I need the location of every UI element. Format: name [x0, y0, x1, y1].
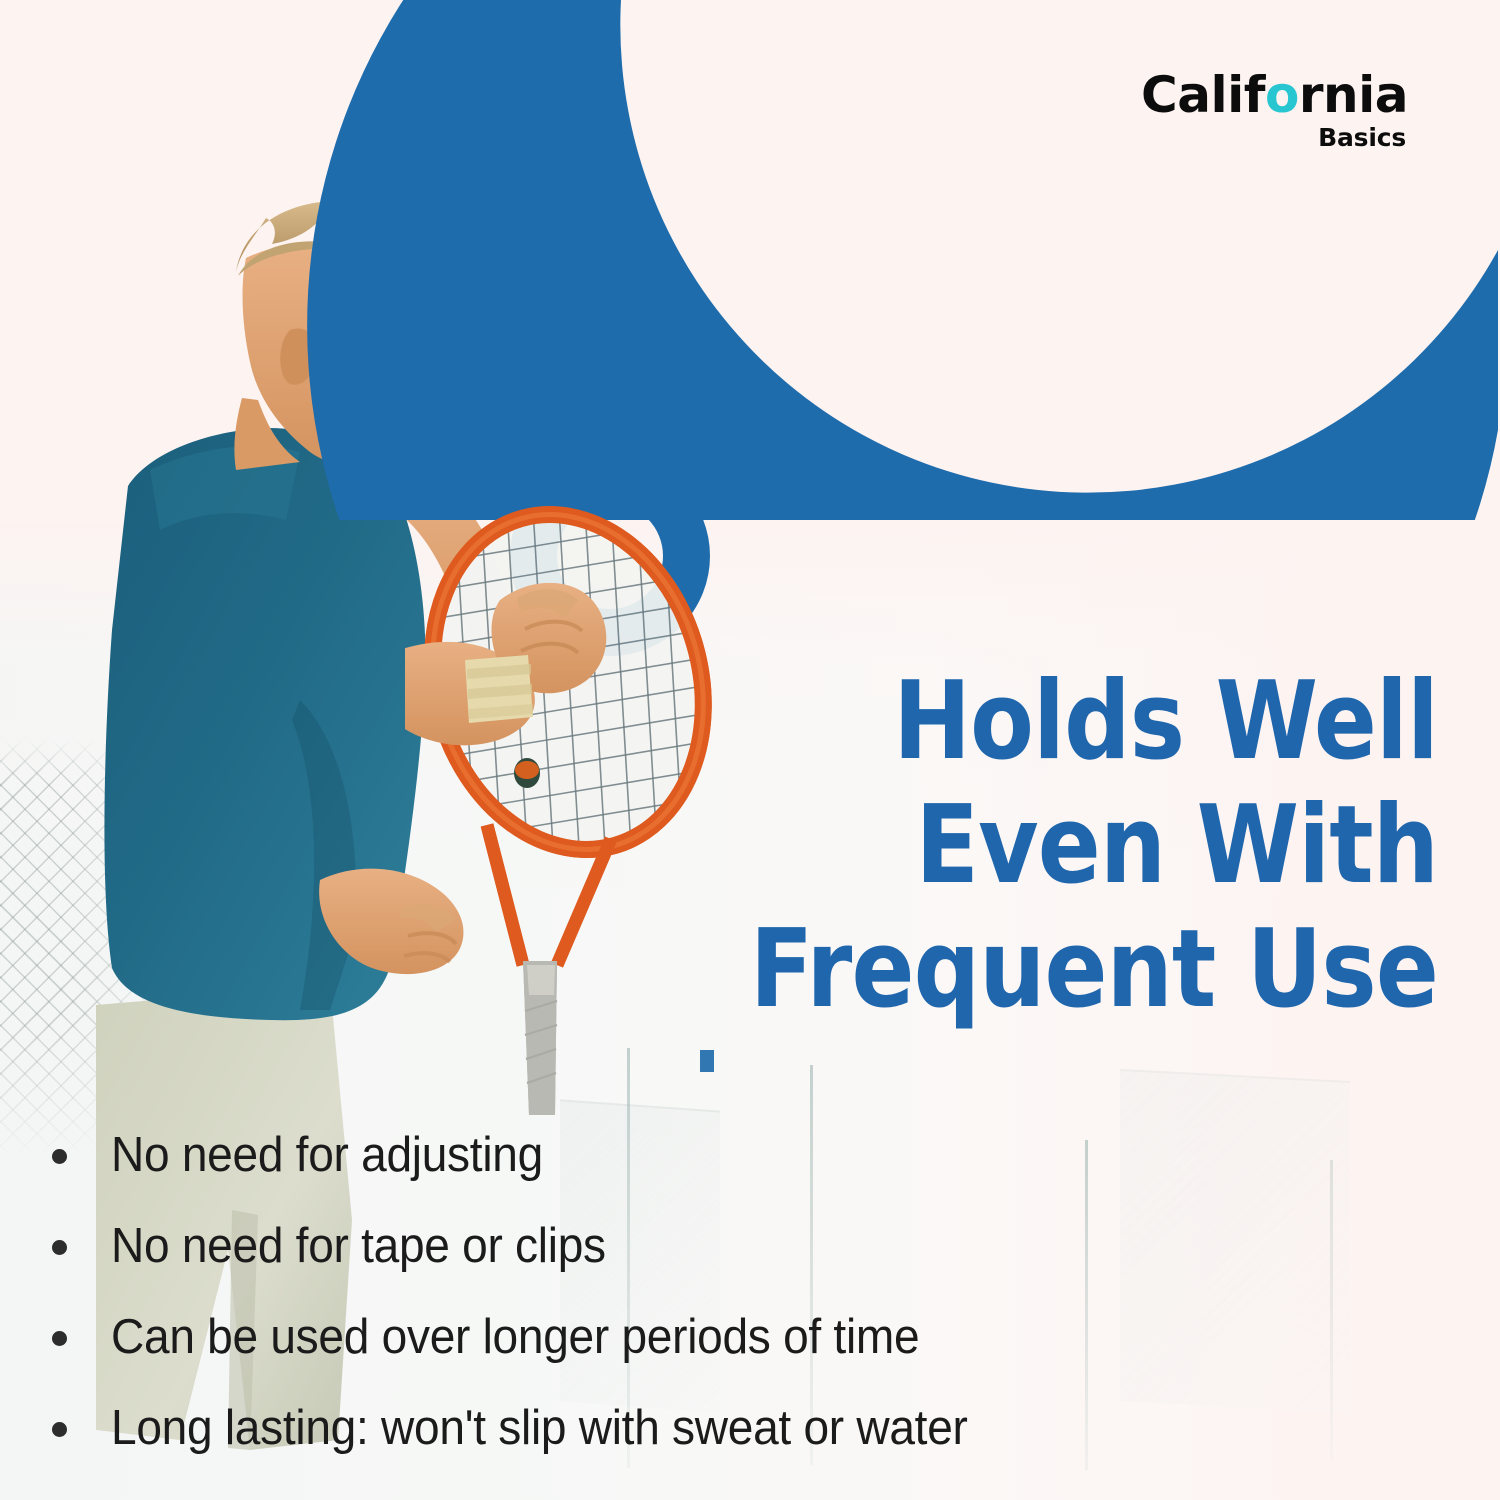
brand-logo-name: California	[1141, 70, 1408, 120]
headline-line-1: Holds Well	[698, 660, 1438, 784]
bullet-text: Long lasting: won't slip with sweat or w…	[111, 1401, 968, 1455]
brand-logo-accent-o: o	[1265, 66, 1299, 124]
bullet-text: No need for adjusting	[111, 1128, 543, 1182]
list-item: Can be used over longer periods of time	[52, 1310, 1352, 1364]
bullet-dot-icon	[52, 1331, 67, 1346]
brand-logo-subtitle: Basics	[1141, 125, 1406, 150]
bullet-text: No need for tape or clips	[111, 1219, 606, 1273]
product-infographic-canvas: California Basics Holds Well Even With F…	[0, 0, 1500, 1500]
brand-logo-name-part2: rnia	[1299, 66, 1408, 124]
headline-line-2: Even With	[698, 784, 1438, 908]
bullet-text: Can be used over longer periods of time	[111, 1310, 919, 1364]
bullet-dot-icon	[52, 1149, 67, 1164]
list-item: No need for tape or clips	[52, 1219, 1352, 1273]
feature-bullet-list: No need for adjusting No need for tape o…	[52, 1128, 1352, 1492]
list-item: No need for adjusting	[52, 1128, 1352, 1182]
list-item: Long lasting: won't slip with sweat or w…	[52, 1401, 1352, 1455]
tennis-racket-foreground	[405, 495, 735, 1135]
bullet-dot-icon	[52, 1422, 67, 1437]
brand-logo-name-part1: Calif	[1141, 66, 1265, 124]
brand-logo[interactable]: California Basics	[1141, 70, 1408, 150]
headline-line-3: Frequent Use	[698, 908, 1438, 1032]
bullet-dot-icon	[52, 1240, 67, 1255]
